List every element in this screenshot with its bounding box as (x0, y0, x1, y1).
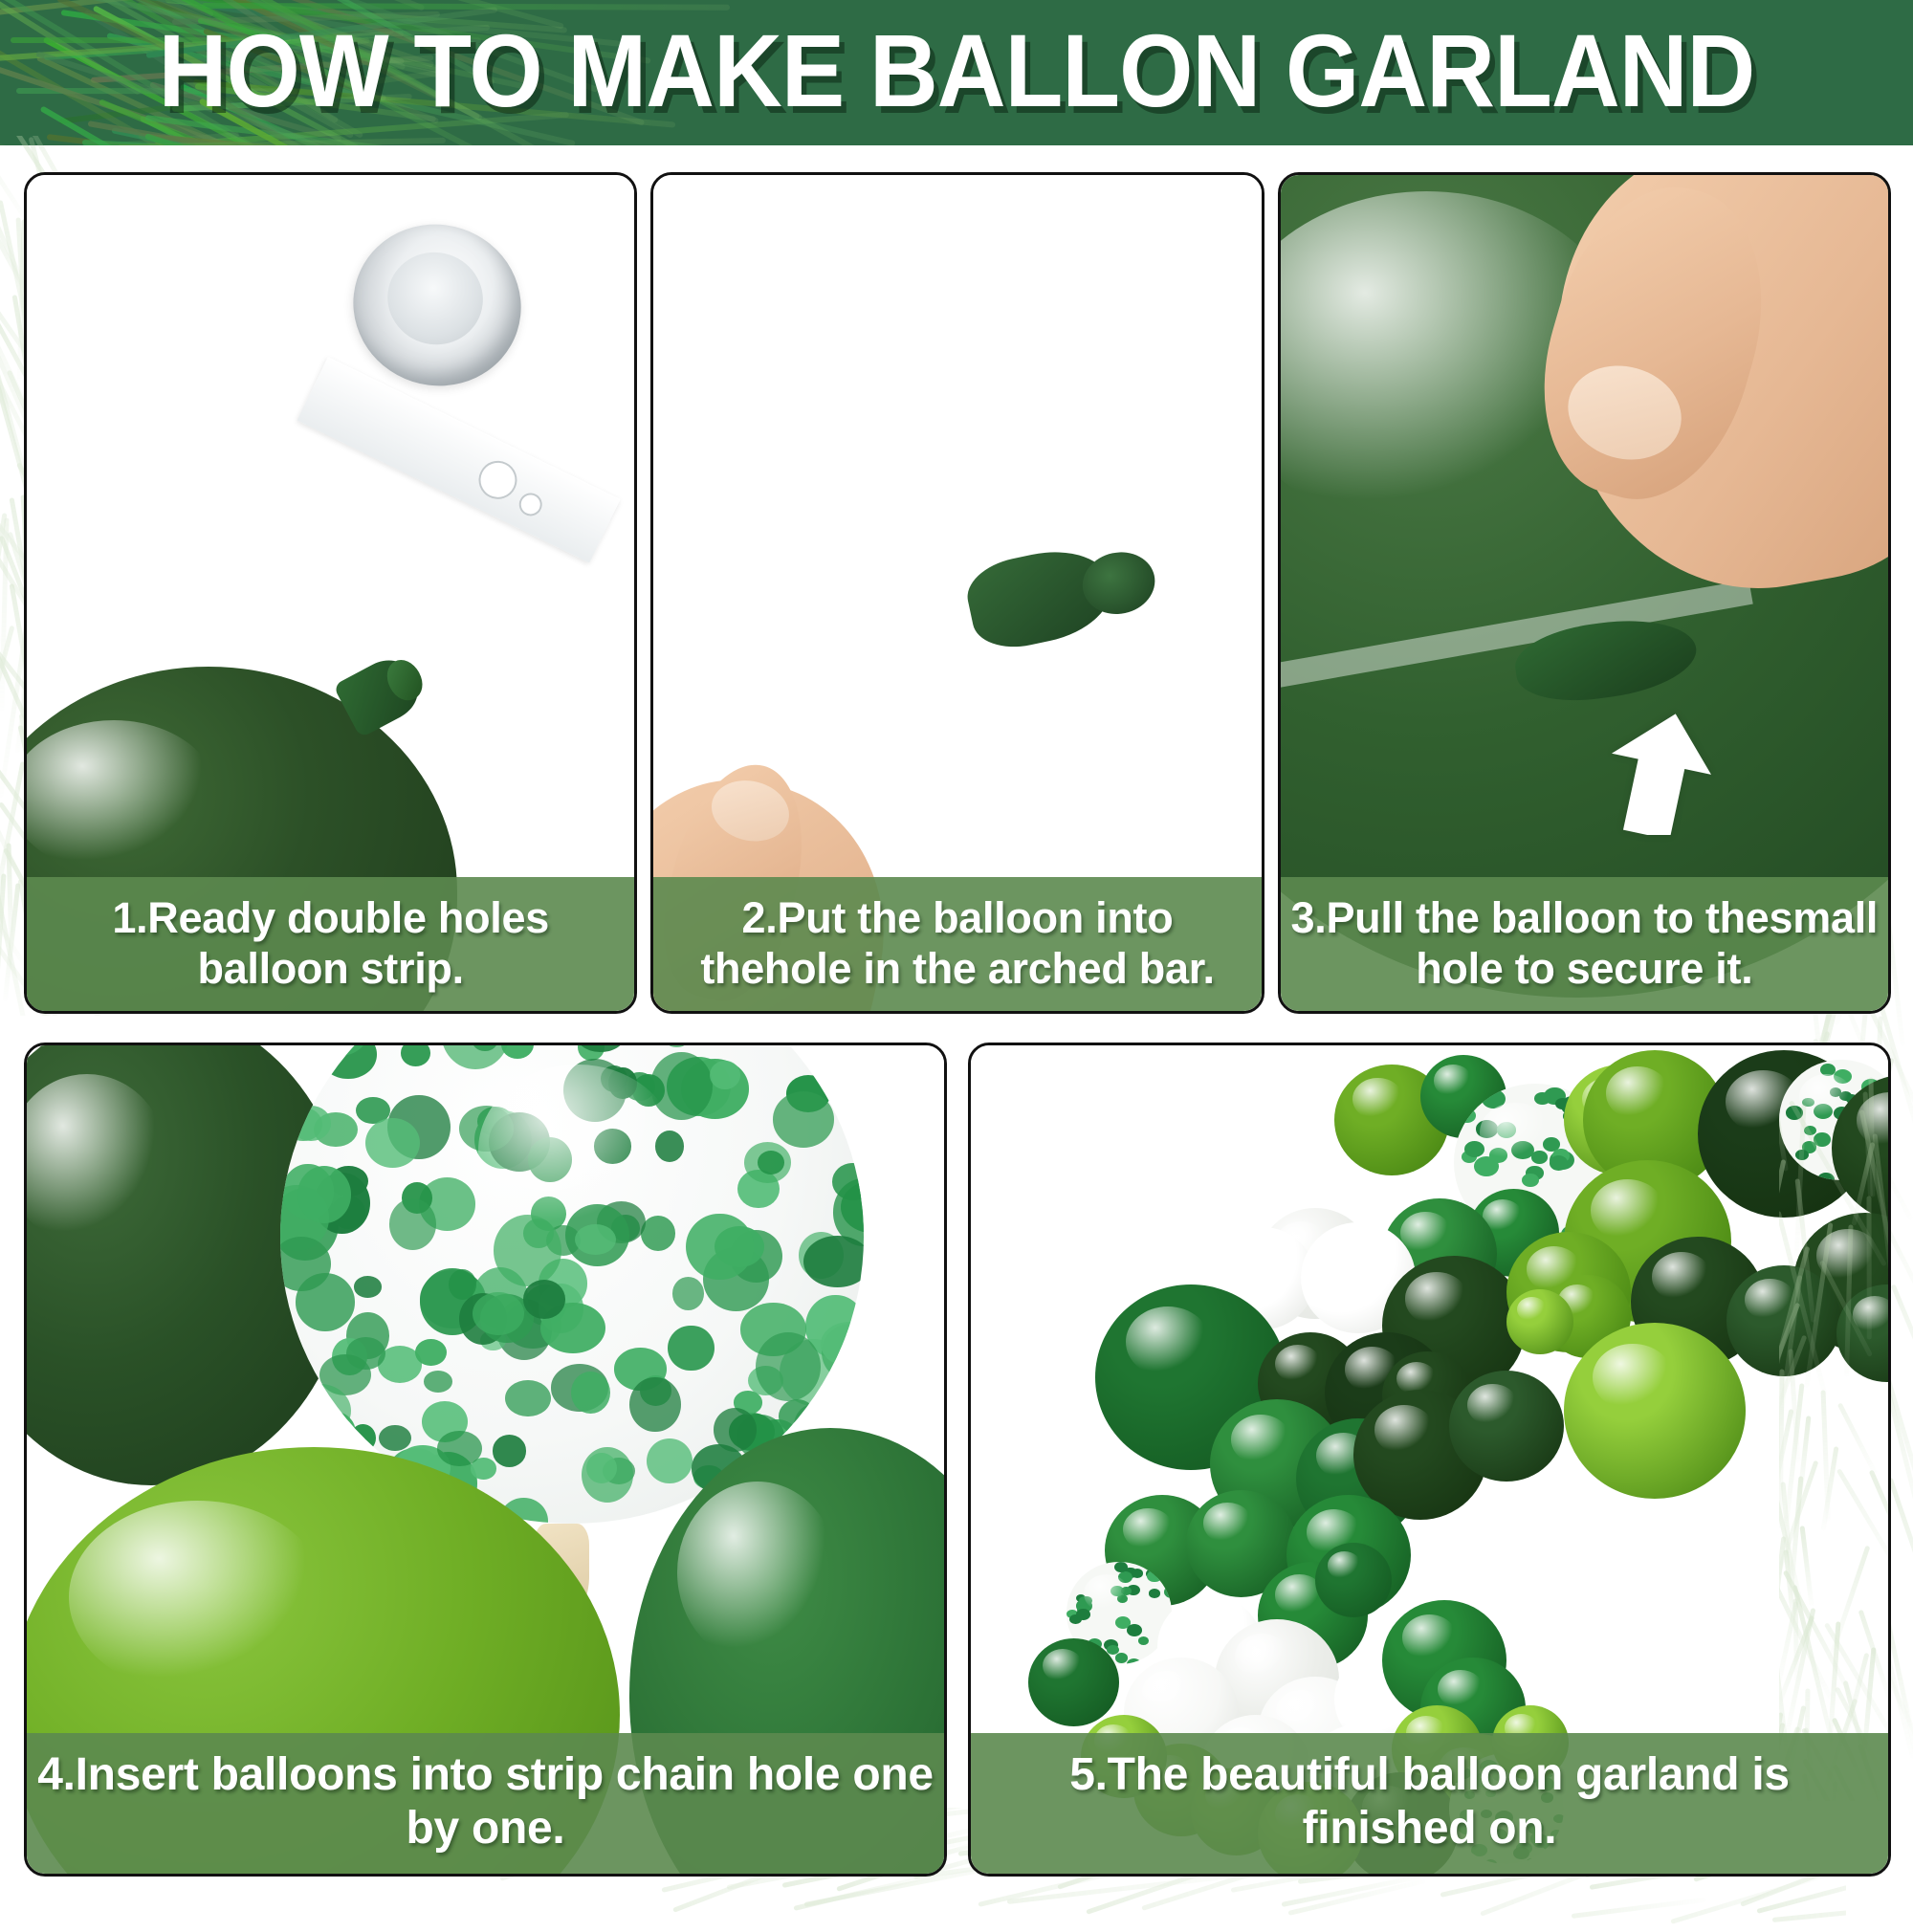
confetti-dot (437, 1431, 482, 1467)
confetti-dot (1149, 1589, 1160, 1597)
confetti-dot (1147, 1570, 1161, 1582)
confetti-dot (1482, 1089, 1506, 1109)
confetti-dot (389, 1198, 437, 1250)
step-3-caption: 3.Pull the balloon to thesmall hole to s… (1281, 877, 1888, 1011)
confetti-dot (710, 1061, 739, 1089)
confetti-dot (1464, 1141, 1484, 1157)
confetti-dot (1802, 1098, 1814, 1108)
confetti-dot (756, 1332, 820, 1401)
confetti-dot (807, 1045, 845, 1046)
dark-green-balloon (1726, 1265, 1841, 1376)
confetti-dot (424, 1371, 452, 1393)
confetti-dot (1164, 1586, 1172, 1598)
confetti-dot (714, 1408, 757, 1452)
confetti-dot (1489, 1148, 1508, 1163)
confetti-dot (1531, 1151, 1548, 1163)
confetti-dot (758, 1151, 784, 1175)
confetti-dot (686, 1214, 753, 1281)
confetti-dot (1820, 1064, 1836, 1076)
confetti-dot (773, 1091, 834, 1147)
dark-green-balloon (1449, 1371, 1564, 1482)
confetti-dot (379, 1425, 411, 1451)
confetti-dot (1550, 1155, 1569, 1171)
confetti-dot (449, 1269, 476, 1300)
confetti-dot (586, 1453, 617, 1483)
confetti-dot (664, 1045, 689, 1047)
step-1-caption: 1.Ready double holes balloon strip. (27, 877, 634, 1011)
steps-sheet: 1.Ready double holes balloon strip. 2.Pu… (0, 145, 1913, 1913)
confetti-dot (1076, 1609, 1090, 1620)
arrow-up-icon (1596, 711, 1711, 835)
lime-green-balloon (1506, 1289, 1573, 1354)
confetti-dot (1458, 1109, 1475, 1123)
confetti-dot (1834, 1069, 1852, 1084)
confetti-dot (1115, 1653, 1128, 1663)
step-5-caption: 5.The beautiful balloon garland is finis… (971, 1733, 1888, 1874)
confetti-dot (1127, 1658, 1142, 1664)
confetti-dot (501, 1045, 534, 1059)
confetti-dot (563, 1059, 627, 1122)
confetti-dot (297, 1166, 351, 1223)
mid-green-balloon (1028, 1638, 1119, 1726)
step-panel-1[interactable]: 1.Ready double holes balloon strip. (24, 172, 637, 1014)
confetti-dot (1138, 1636, 1149, 1645)
confetti-dot (655, 1131, 684, 1162)
step-panel-2[interactable]: 2.Put the balloon into thehole in the ar… (650, 172, 1264, 1014)
confetti-dot (288, 1384, 350, 1438)
confetti-dot (346, 1337, 385, 1370)
confetti-dot (1118, 1571, 1132, 1583)
confetti-dot (594, 1129, 631, 1164)
page-title: HOW TO MAKE BALLON GARLAND (77, 19, 1836, 122)
steps-row-top: 1.Ready double holes balloon strip. 2.Pu… (24, 172, 1891, 1014)
confetti-dot (523, 1280, 566, 1319)
strip-hole (863, 525, 893, 556)
step-2-caption: 2.Put the balloon into thehole in the ar… (653, 877, 1261, 1011)
confetti-dot (401, 1045, 431, 1066)
confetti-dot (668, 1326, 714, 1372)
step-panel-4[interactable]: 4.Insert balloons into strip chain hole … (24, 1043, 947, 1877)
confetti-dot (1789, 1170, 1803, 1181)
balloon-strip-tail (297, 357, 621, 563)
confetti-dot (493, 1435, 527, 1467)
step-panel-3[interactable]: 3.Pull the balloon to thesmall hole to s… (1278, 172, 1891, 1014)
confetti-dot (415, 1339, 447, 1367)
confetti-dot (365, 1118, 420, 1168)
confetti-dot (672, 1277, 705, 1310)
mid-green-balloon (1315, 1543, 1392, 1617)
lime-green-balloon (1564, 1323, 1746, 1499)
strip-hole-small (516, 489, 546, 519)
confetti-dot (291, 1106, 331, 1141)
confetti-dot (803, 1236, 864, 1287)
confetti-dot (523, 1218, 554, 1248)
confetti-dot (528, 1137, 572, 1182)
confetti-dot (441, 1045, 509, 1069)
confetti-dot (629, 1377, 681, 1432)
confetti-dot (1814, 1104, 1833, 1119)
steps-row-bottom: 4.Insert balloons into strip chain hole … (24, 1043, 1891, 1877)
confetti-dot (1817, 1173, 1835, 1180)
confetti-dot (505, 1380, 550, 1416)
strip-hole-large (473, 454, 523, 505)
step-4-caption: 4.Insert balloons into strip chain hole … (27, 1733, 944, 1874)
step-panel-5[interactable]: 5.The beautiful balloon garland is finis… (968, 1043, 1891, 1877)
confetti-dot (1497, 1122, 1517, 1137)
page-header: HOW TO MAKE BALLON GARLAND (0, 0, 1913, 145)
confetti-dot (1132, 1569, 1143, 1578)
confetti-dot (354, 1276, 382, 1297)
confetti-dot (1476, 1120, 1498, 1137)
fingernail (705, 773, 796, 849)
confetti-dot (1522, 1174, 1539, 1187)
confetti-dot (575, 1224, 616, 1255)
confetti-dot (647, 1438, 693, 1483)
fingernail (1557, 353, 1693, 472)
confetti-dot (1795, 1150, 1809, 1160)
confetti-dot (1121, 1587, 1132, 1594)
confetti-dot (1786, 1106, 1803, 1120)
confetti-dot (571, 1372, 610, 1414)
confetti-dot (1814, 1132, 1831, 1147)
confetti-dot (1127, 1624, 1142, 1636)
